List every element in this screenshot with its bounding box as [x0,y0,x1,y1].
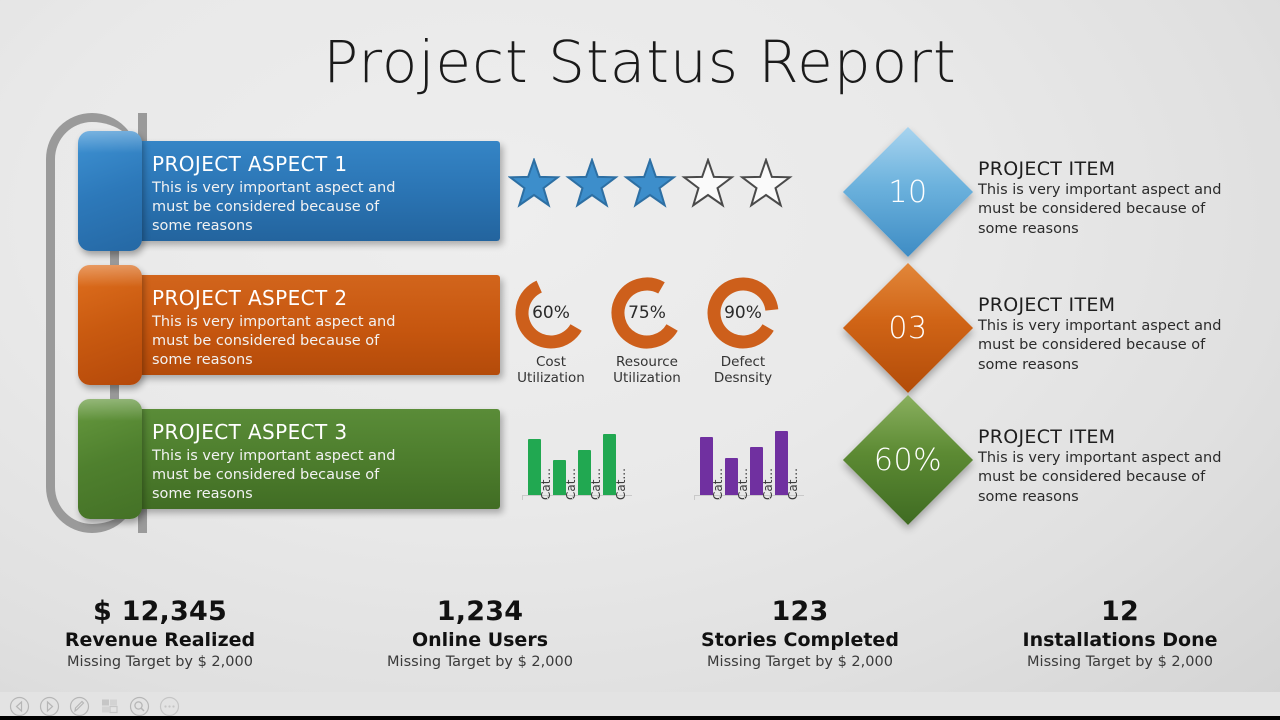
donut-value-2: 75% [610,276,684,350]
aspect-tab-2 [78,265,142,385]
slide-grid-icon[interactable] [96,696,122,717]
kpi-sub-revenue: Missing Target by $ 2,000 [0,654,320,670]
kpi-value-revenue: $ 12,345 [0,596,320,627]
kpi-sub-stories: Missing Target by $ 2,000 [640,654,960,670]
kpi-label-revenue: Revenue Realized [0,629,320,651]
aspect-banner-3[interactable]: PROJECT ASPECT 3 This is very important … [120,409,500,509]
aspect-body-3-line1: This is very important aspect and [152,447,490,466]
bar-chart-green: Cat...Cat...Cat...Cat... [522,424,632,524]
aspect-body-2-line3: some reasons [152,351,490,370]
kpi-label-installations: Installations Done [960,629,1280,651]
axis-tick [597,495,598,500]
aspect-body-3-line2: must be considered because of [152,466,490,485]
kpi-card-stories: 123 Stories Completed Missing Target by … [640,596,960,670]
item-body-1-line1: This is very important aspect and [978,181,1268,200]
aspect-heading-2: PROJECT ASPECT 2 [152,287,490,311]
bar-chart-purple: Cat...Cat...Cat...Cat... [694,424,804,524]
item-body-3-line2: must be considered because of [978,468,1268,487]
kpi-card-online-users: 1,234 Online Users Missing Target by $ 2… [320,596,640,670]
next-slide-icon[interactable] [36,696,62,717]
diamond-badge-2: 03 [862,282,954,374]
star-empty-icon[interactable] [742,160,790,205]
aspect-body-2-line2: must be considered because of [152,332,490,351]
donut-ring-2: 75% [610,276,684,350]
kpi-row: $ 12,345 Revenue Realized Missing Target… [0,596,1280,670]
donut-gauge-chart-group: 60%CostUtilization75%ResourceUtilization… [508,276,808,394]
slide-bottom-edge [0,716,1280,720]
axis-tick [522,495,523,500]
aspect-tab-1 [78,131,142,251]
bar-category-label: Cat... [589,468,603,500]
kpi-sub-installations: Missing Target by $ 2,000 [960,654,1280,670]
donut-caption-3: DefectDesnsity [700,354,786,387]
bar-category-label: Cat... [786,468,800,500]
aspect-banner-2[interactable]: PROJECT ASPECT 2 This is very important … [120,275,500,375]
bar-category-label: Cat... [711,468,725,500]
star-empty-icon[interactable] [684,160,732,205]
aspect-tab-3 [78,399,142,519]
bar-chart-green-plot: Cat...Cat...Cat...Cat... [522,424,632,496]
item-body-2-line2: must be considered because of [978,336,1268,355]
donut-ring-1: 60% [514,276,588,350]
donut-gauge-1: 60%CostUtilization [508,276,594,387]
project-item-1[interactable]: 10 PROJECT ITEM This is very important a… [862,146,1262,266]
previous-slide-icon[interactable] [6,696,32,717]
star-filled-icon[interactable] [510,160,558,205]
donut-gauge-2: 75%ResourceUtilization [604,276,690,387]
pen-tool-icon[interactable] [66,696,92,717]
donut-caption-2: ResourceUtilization [604,354,690,387]
more-options-icon[interactable] [156,696,182,717]
axis-tick [769,495,770,500]
kpi-value-stories: 123 [640,596,960,627]
kpi-value-online-users: 1,234 [320,596,640,627]
kpi-value-installations: 12 [960,596,1280,627]
aspect-body-1-line3: some reasons [152,217,490,236]
project-item-3[interactable]: 60% PROJECT ITEM This is very important … [862,414,1262,534]
axis-tick [744,495,745,500]
item-heading-2: PROJECT ITEM [978,294,1268,316]
diamond-badge-1: 10 [862,146,954,238]
slide-canvas: Project Status Report PROJECT ASPECT 1 T… [0,0,1280,720]
item-body-3-line1: This is very important aspect and [978,449,1268,468]
bar-category-label: Cat... [761,468,775,500]
kpi-sub-online-users: Missing Target by $ 2,000 [320,654,640,670]
item-body-3-line3: some reasons [978,488,1268,507]
donut-value-3: 90% [706,276,780,350]
aspect-body-2-line1: This is very important aspect and [152,313,490,332]
star-rating[interactable] [508,158,798,212]
axis-tick [694,495,695,500]
aspect-heading-1: PROJECT ASPECT 1 [152,153,490,177]
aspect-banner-1[interactable]: PROJECT ASPECT 1 This is very important … [120,141,500,241]
kpi-card-installations: 12 Installations Done Missing Target by … [960,596,1280,670]
item-body-2-line3: some reasons [978,356,1268,375]
item-body-1-line2: must be considered because of [978,200,1268,219]
donut-caption-1: CostUtilization [508,354,594,387]
aspect-heading-3: PROJECT ASPECT 3 [152,421,490,445]
item-body-1-line3: some reasons [978,220,1268,239]
item-heading-1: PROJECT ITEM [978,158,1268,180]
kpi-label-stories: Stories Completed [640,629,960,651]
aspect-body-1-line1: This is very important aspect and [152,179,490,198]
bar-category-label: Cat... [564,468,578,500]
axis-tick [719,495,720,500]
kpi-card-revenue: $ 12,345 Revenue Realized Missing Target… [0,596,320,670]
item-heading-3: PROJECT ITEM [978,426,1268,448]
star-filled-icon[interactable] [568,160,616,205]
bar-chart-purple-plot: Cat...Cat...Cat...Cat... [694,424,804,496]
kpi-label-online-users: Online Users [320,629,640,651]
zoom-tool-icon[interactable] [126,696,152,717]
aspect-body-3-line3: some reasons [152,485,490,504]
project-item-2[interactable]: 03 PROJECT ITEM This is very important a… [862,282,1262,402]
axis-tick [572,495,573,500]
donut-ring-3: 90% [706,276,780,350]
axis-tick [547,495,548,500]
page-title: Project Status Report [0,28,1280,96]
star-filled-icon[interactable] [626,160,674,205]
donut-gauge-3: 90%DefectDesnsity [700,276,786,387]
bar-category-label: Cat... [539,468,553,500]
bar-category-label: Cat... [614,468,628,500]
item-body-2-line1: This is very important aspect and [978,317,1268,336]
aspect-body-1-line2: must be considered because of [152,198,490,217]
donut-value-1: 60% [514,276,588,350]
bar-category-label: Cat... [736,468,750,500]
diamond-badge-3: 60% [862,414,954,506]
